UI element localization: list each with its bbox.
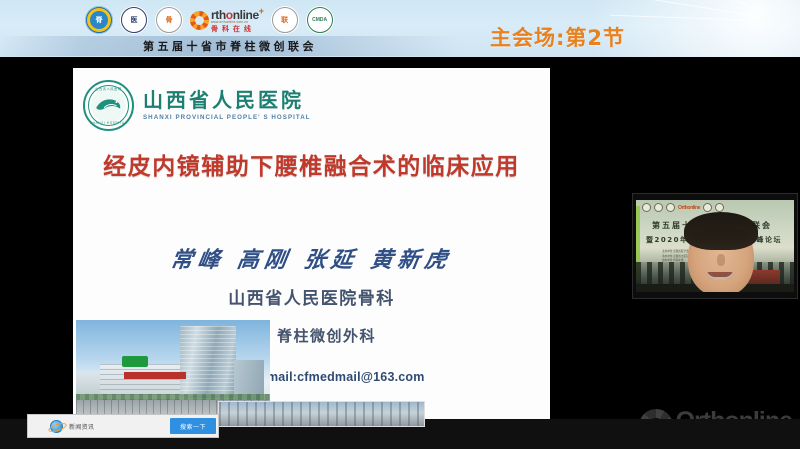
session-title: 主会场:第2节: [490, 22, 625, 52]
logo-cmda-label: CMDA: [311, 11, 329, 29]
hospital-header: 山西省人民医院 SHANXI HOSPITAL 山西省人民医院 SHANXI P…: [83, 80, 311, 131]
orthonline-burst-icon: [190, 11, 209, 30]
address-input[interactable]: 新闻资讯: [69, 422, 170, 431]
backdrop-orthonline-label: Orthonline: [678, 205, 700, 211]
hospital-seal-icon: 山西省人民医院 SHANXI HOSPITAL: [83, 80, 134, 131]
backdrop-logo-row: Orthonline: [642, 203, 724, 212]
logo-spine-society-label: 脊: [90, 11, 108, 29]
logo-spine-society-icon: 脊: [85, 6, 113, 34]
speaker-webcam-panel[interactable]: Orthonline 第五届十省市脊柱微创联会 暨2020年安徽省脊柱微创高峰论…: [632, 193, 798, 299]
hospital-name-en: SHANXI PROVINCIAL PEOPLE' S HOSPITAL: [143, 114, 311, 121]
browser-icon: [50, 420, 63, 433]
taskbar: 新闻资讯 搜索一下: [0, 419, 800, 449]
conference-banner: 脊 医 骨 rthonline+ www.orthonline.com.cn 骨…: [0, 0, 800, 57]
screen-capture: 脊 医 骨 rthonline+ www.orthonline.com.cn 骨…: [0, 0, 800, 449]
logo-orthopedic-union-icon: 骨: [155, 6, 183, 34]
logo-hospital-alliance-icon: 联: [271, 6, 299, 34]
slide-title: 经皮内镜辅助下腰椎融合术的临床应用: [73, 147, 550, 181]
seal-top-text: 山西省人民医院: [85, 86, 132, 91]
logo-hospital-alliance-label: 联: [276, 11, 294, 29]
logo-medical-association-icon: 医: [120, 6, 148, 34]
seal-bottom-text: SHANXI HOSPITAL: [85, 121, 132, 125]
sponsor-logo-row: 脊 医 骨 rthonline+ www.orthonline.com.cn 骨…: [85, 5, 334, 35]
speaker-hair: [684, 212, 758, 250]
taskbar-window-preview[interactable]: [218, 401, 425, 427]
sun-ray: [610, 15, 760, 21]
dove-icon: [94, 95, 123, 115]
slide-authors: 常峰 高刚 张延 黄新虎: [73, 242, 550, 274]
banner-subtitle-text: 第五届十省市脊柱微创联会: [143, 38, 317, 54]
browser-address-bar[interactable]: 新闻资讯 搜索一下: [27, 414, 219, 438]
orthonline-wordmark: rthonline+: [211, 7, 264, 21]
speaker-mouth: [707, 272, 733, 280]
logo-medical-association-label: 医: [125, 11, 143, 29]
banner-subtitle-bar: 第五届十省市脊柱微创联会: [0, 36, 460, 56]
slide-affiliation: 山西省人民医院骨科: [73, 284, 550, 309]
hospital-name-cn: 山西省人民医院: [143, 90, 311, 111]
speaker-nose: [717, 254, 725, 266]
presentation-stage: 山西省人民医院 SHANXI HOSPITAL 山西省人民医院 SHANXI P…: [0, 57, 800, 449]
logo-orthopedic-union-label: 骨: [160, 11, 178, 29]
search-button[interactable]: 搜索一下: [170, 418, 216, 434]
orthonline-chinese-name: 骨 科 在 线: [211, 26, 264, 33]
presentation-slide[interactable]: 山西省人民医院 SHANXI HOSPITAL 山西省人民医院 SHANXI P…: [73, 68, 550, 425]
logo-cmda-icon: CMDA: [306, 6, 334, 34]
logo-orthonline: rthonline+ www.orthonline.com.cn 骨 科 在 线: [190, 5, 264, 35]
webcam-video: Orthonline 第五届十省市脊柱微创联会 暨2020年安徽省脊柱微创高峰论…: [636, 200, 794, 292]
